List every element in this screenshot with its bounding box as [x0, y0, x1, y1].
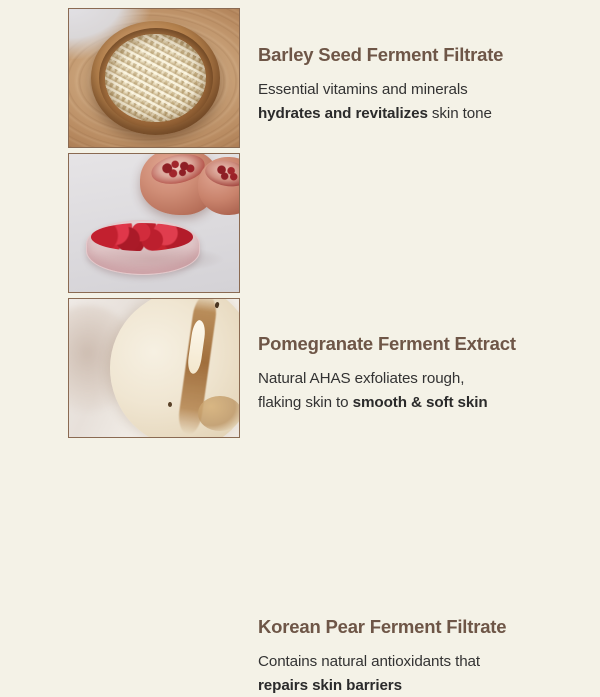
pomegranate-arils	[91, 223, 193, 251]
description-highlight: repairs skin barriers	[258, 674, 588, 697]
ingredient-row: Barley Seed Ferment Filtrate Essential v…	[0, 8, 600, 148]
barley-photo	[69, 9, 239, 147]
ingredient-title: Korean Pear Ferment Filtrate	[258, 616, 588, 638]
pear-skin-edge	[198, 396, 240, 432]
ingredient-title: Barley Seed Ferment Filtrate	[258, 44, 588, 66]
pomegranate-photo	[69, 154, 239, 292]
ingredient-image-barley	[68, 8, 240, 148]
korean-pear-photo	[69, 299, 239, 437]
ingredient-image-korean-pear	[68, 298, 240, 438]
pear-seed	[214, 302, 220, 309]
ingredient-infographic: Barley Seed Ferment Filtrate Essential v…	[0, 0, 600, 450]
description-line-1: Contains natural antioxidants that	[258, 650, 588, 674]
description-line-1: Essential vitamins and minerals	[258, 78, 588, 102]
ingredient-text-block: Barley Seed Ferment Filtrate Essential v…	[258, 44, 588, 125]
ingredient-text-block: Korean Pear Ferment Filtrate Contains na…	[258, 616, 588, 697]
ingredient-row: Korean Pear Ferment Filtrate Contains na…	[0, 298, 600, 438]
description-line-2-rest: skin tone	[428, 105, 492, 122]
ingredient-description: Essential vitamins and minerals hydrates…	[258, 78, 588, 125]
description-highlight: hydrates and revitalizes	[258, 105, 428, 122]
description-line-2: hydrates and revitalizes skin tone	[258, 102, 588, 126]
ingredient-row: Pomegranate Ferment Extract Natural AHAS…	[0, 153, 600, 293]
ingredient-image-pomegranate	[68, 153, 240, 293]
ingredient-description: Contains natural antioxidants that repai…	[258, 650, 588, 697]
wooden-bowl	[91, 21, 220, 134]
pear-seed	[168, 402, 172, 407]
barley-grains	[105, 34, 206, 122]
